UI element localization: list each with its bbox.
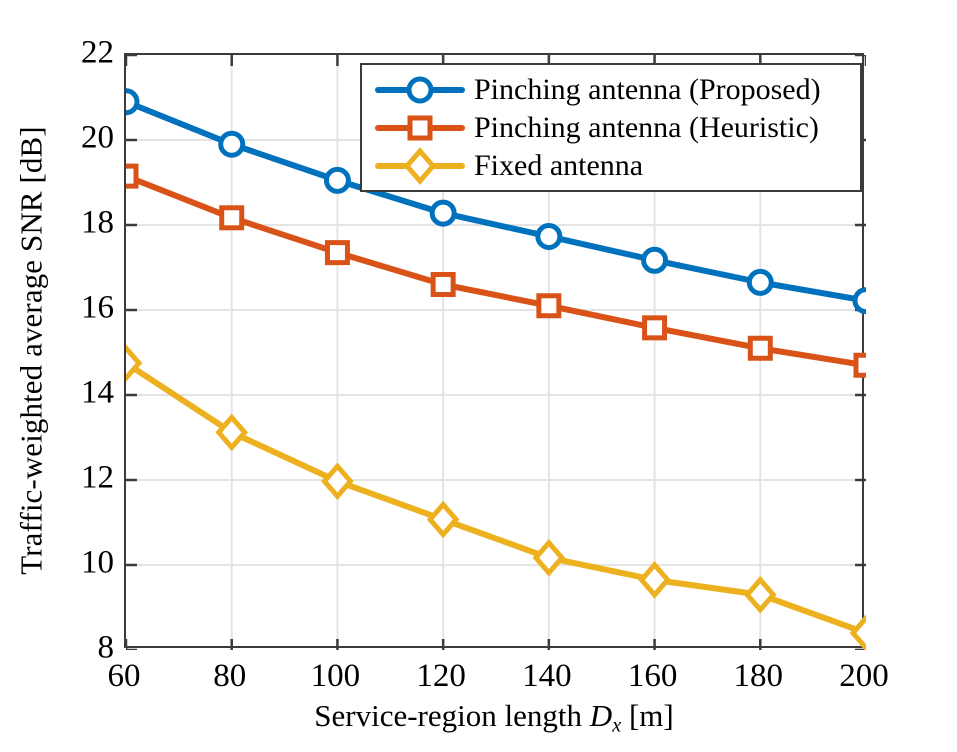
y-tick-label: 22 [14, 37, 114, 70]
data-point-circle [538, 225, 560, 247]
data-point-diamond [219, 417, 245, 447]
x-tick-label: 180 [698, 660, 818, 693]
x-tick-label: 160 [593, 660, 713, 693]
legend-item-0[interactable]: Pinching antenna (Proposed) [374, 71, 850, 109]
chart-legend: Pinching antenna (Proposed)Pinching ante… [360, 63, 862, 192]
legend-item-1[interactable]: Pinching antenna (Heuristic) [374, 109, 850, 147]
y-axis-label-container: Traffic-weighted average SNR [dB] [0, 0, 62, 700]
legend-label: Pinching antenna (Heuristic) [466, 113, 819, 143]
data-point-diamond [324, 466, 350, 496]
data-point-circle [432, 202, 454, 224]
y-axis-tick-labels: 222018161412108 [8, 53, 114, 648]
legend-marker-circle-icon [374, 71, 466, 109]
data-point-diamond [430, 505, 456, 535]
data-point-circle [326, 169, 348, 191]
data-point-square [645, 318, 665, 338]
data-point-circle [749, 271, 771, 293]
data-point-square [433, 275, 453, 295]
y-tick-label: 8 [14, 632, 114, 665]
data-point-diamond [747, 580, 773, 610]
data-point-diamond [536, 543, 562, 573]
x-axis-label-suffix: [m] [621, 698, 674, 733]
data-point-square [856, 355, 866, 375]
x-tick-label: 60 [64, 660, 184, 693]
y-tick-label: 12 [14, 462, 114, 495]
legend-label: Fixed antenna [466, 151, 643, 181]
chart-figure: Traffic-weighted average SNR [dB] 222018… [0, 0, 957, 752]
x-tick-label: 140 [487, 660, 607, 693]
data-point-square [410, 118, 430, 138]
data-point-square [222, 208, 242, 228]
data-point-square [126, 166, 136, 186]
data-point-diamond [853, 618, 866, 648]
data-point-circle [409, 79, 431, 101]
x-axis-label-prefix: Service-region length [314, 698, 589, 733]
x-tick-label: 200 [804, 660, 924, 693]
x-axis-label-subscript: x [612, 715, 621, 737]
x-axis-label-variable: D [590, 698, 612, 733]
data-point-diamond [407, 151, 433, 181]
legend-marker-square-icon [374, 109, 466, 147]
data-point-circle [126, 91, 137, 113]
x-tick-label: 80 [170, 660, 290, 693]
data-point-circle [221, 133, 243, 155]
x-axis-label: Service-region length Dx [m] [124, 700, 864, 736]
y-tick-label: 20 [14, 122, 114, 155]
data-point-square [539, 296, 559, 316]
legend-label: Pinching antenna (Proposed) [466, 75, 821, 105]
y-tick-label: 10 [14, 547, 114, 580]
data-point-circle [644, 249, 666, 271]
y-tick-label: 16 [14, 292, 114, 325]
x-tick-label: 100 [275, 660, 395, 693]
y-tick-label: 18 [14, 207, 114, 240]
legend-item-2[interactable]: Fixed antenna [374, 147, 850, 185]
data-point-diamond [642, 565, 668, 595]
legend-marker-diamond-icon [374, 147, 466, 185]
data-point-circle [855, 290, 866, 312]
data-point-square [327, 243, 347, 263]
data-point-square [750, 338, 770, 358]
x-tick-label: 120 [381, 660, 501, 693]
y-axis-label: Traffic-weighted average SNR [dB] [16, 126, 47, 574]
y-tick-label: 14 [14, 377, 114, 410]
